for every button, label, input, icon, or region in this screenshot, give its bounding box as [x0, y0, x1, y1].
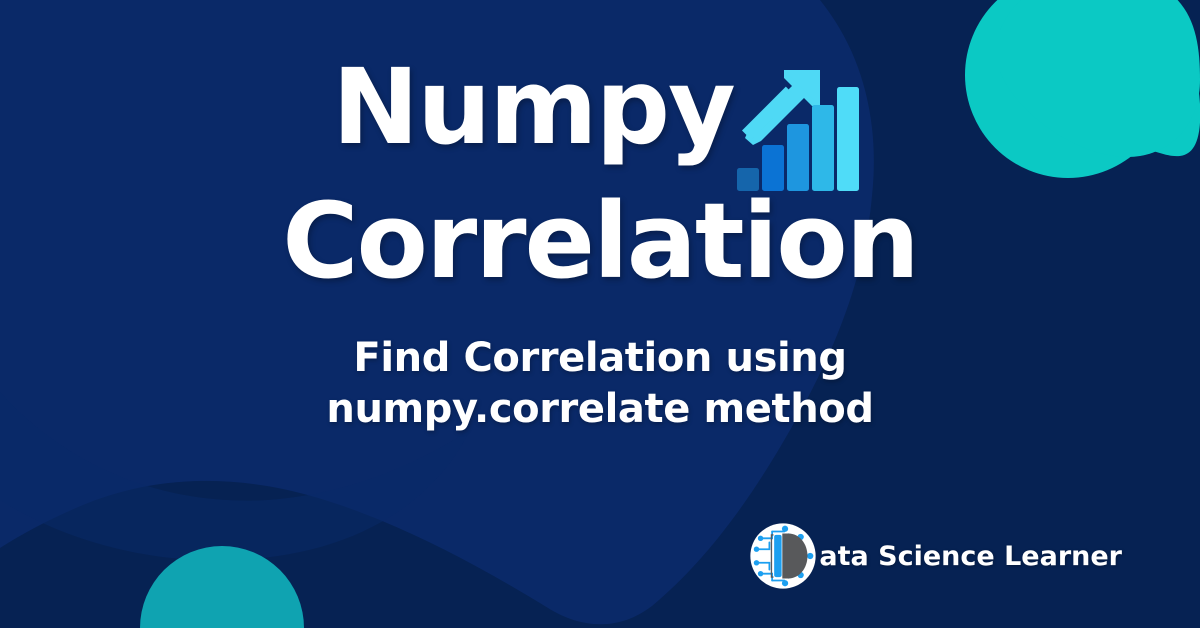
title-line-1-text: Numpy — [332, 58, 734, 158]
title-line-2: Correlation — [0, 192, 1200, 292]
chart-bar-4 — [812, 105, 834, 191]
title-line-1: Numpy — [332, 58, 868, 192]
banner-content: Numpy Cor — [0, 0, 1200, 628]
growth-bar-chart-icon — [736, 64, 868, 192]
banner-canvas: Numpy Cor — [0, 0, 1200, 628]
subtitle-line-1: Find Correlation using — [0, 333, 1200, 384]
brand-lockup[interactable]: ata Science Learner — [749, 522, 1122, 590]
page-subtitle: Find Correlation using numpy.correlate m… — [0, 333, 1200, 435]
page-title: Numpy Cor — [0, 58, 1200, 292]
data-science-learner-logo-icon — [749, 522, 817, 590]
logo-d-stem — [775, 535, 782, 577]
subtitle-line-2: numpy.correlate method — [0, 384, 1200, 435]
chart-bar-5 — [837, 87, 859, 191]
brand-name: ata Science Learner — [819, 541, 1122, 572]
